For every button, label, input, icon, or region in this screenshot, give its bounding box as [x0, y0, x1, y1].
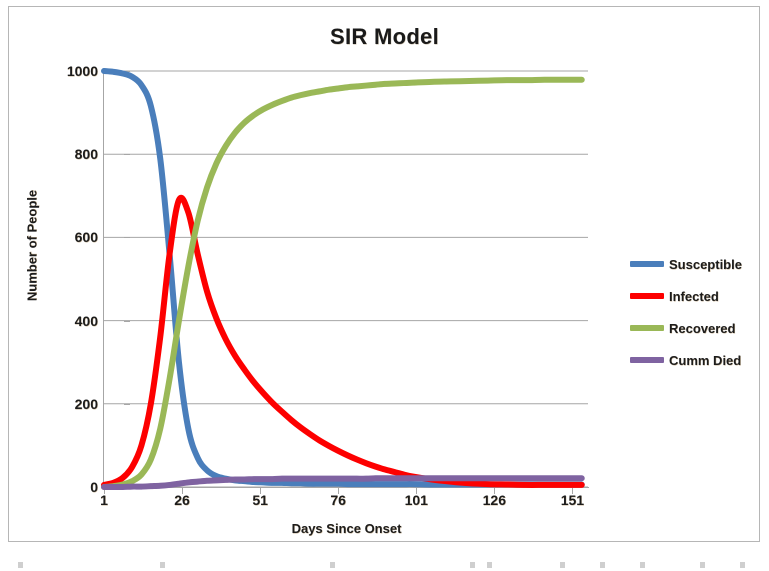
legend-item[interactable]: Infected: [630, 280, 769, 312]
series-line: [104, 71, 582, 485]
page-artifact-mark: [560, 562, 565, 568]
legend-color-swatch: [630, 261, 664, 267]
x-axis-tick-label: 151: [542, 492, 602, 508]
plot-area: [104, 71, 588, 487]
series-canvas: [104, 71, 588, 487]
x-axis-tick-label: 101: [386, 492, 446, 508]
legend-label: Recovered: [669, 321, 735, 336]
x-axis-tick-mark: [494, 488, 495, 494]
page-artifact-mark: [330, 562, 335, 568]
legend-color-swatch: [630, 357, 664, 363]
legend-color-swatch: [630, 293, 664, 299]
page-artifact-mark: [600, 562, 605, 568]
page-artifact-mark: [487, 562, 492, 568]
page-artifact-mark: [470, 562, 475, 568]
legend-color-swatch: [630, 325, 664, 331]
x-axis-tick-label: 1: [74, 492, 134, 508]
x-axis-tick-mark: [338, 488, 339, 494]
x-axis-tick-label: 26: [152, 492, 212, 508]
x-axis-tick-mark: [260, 488, 261, 494]
legend-item[interactable]: Cumm Died: [630, 344, 769, 376]
legend-label: Susceptible: [669, 257, 742, 272]
page-artifact-mark: [700, 562, 705, 568]
x-axis-title: Days Since Onset: [104, 521, 589, 536]
chart-container: SIR Model 02004006008001000 126517610112…: [0, 0, 769, 571]
x-axis-tick-mark: [182, 488, 183, 494]
page-artifact-mark: [18, 562, 23, 568]
legend-label: Cumm Died: [669, 353, 741, 368]
legend-item[interactable]: Recovered: [630, 312, 769, 344]
legend-item[interactable]: Susceptible: [630, 248, 769, 280]
legend-label: Infected: [669, 289, 719, 304]
x-axis-tick-label: 76: [308, 492, 368, 508]
page-artifact-mark: [740, 562, 745, 568]
page-artifact-mark: [160, 562, 165, 568]
x-axis-tick-mark: [416, 488, 417, 494]
x-axis-tick-label: 126: [464, 492, 524, 508]
chart-legend: SusceptibleInfectedRecoveredCumm Died: [630, 248, 769, 376]
page-bottom-artifacts: [0, 560, 769, 571]
x-axis-tick-label: 51: [230, 492, 290, 508]
page-artifact-mark: [640, 562, 645, 568]
y-axis-title: Number of People: [25, 166, 40, 326]
x-axis-tick-mark: [572, 488, 573, 494]
series-line: [104, 80, 582, 487]
